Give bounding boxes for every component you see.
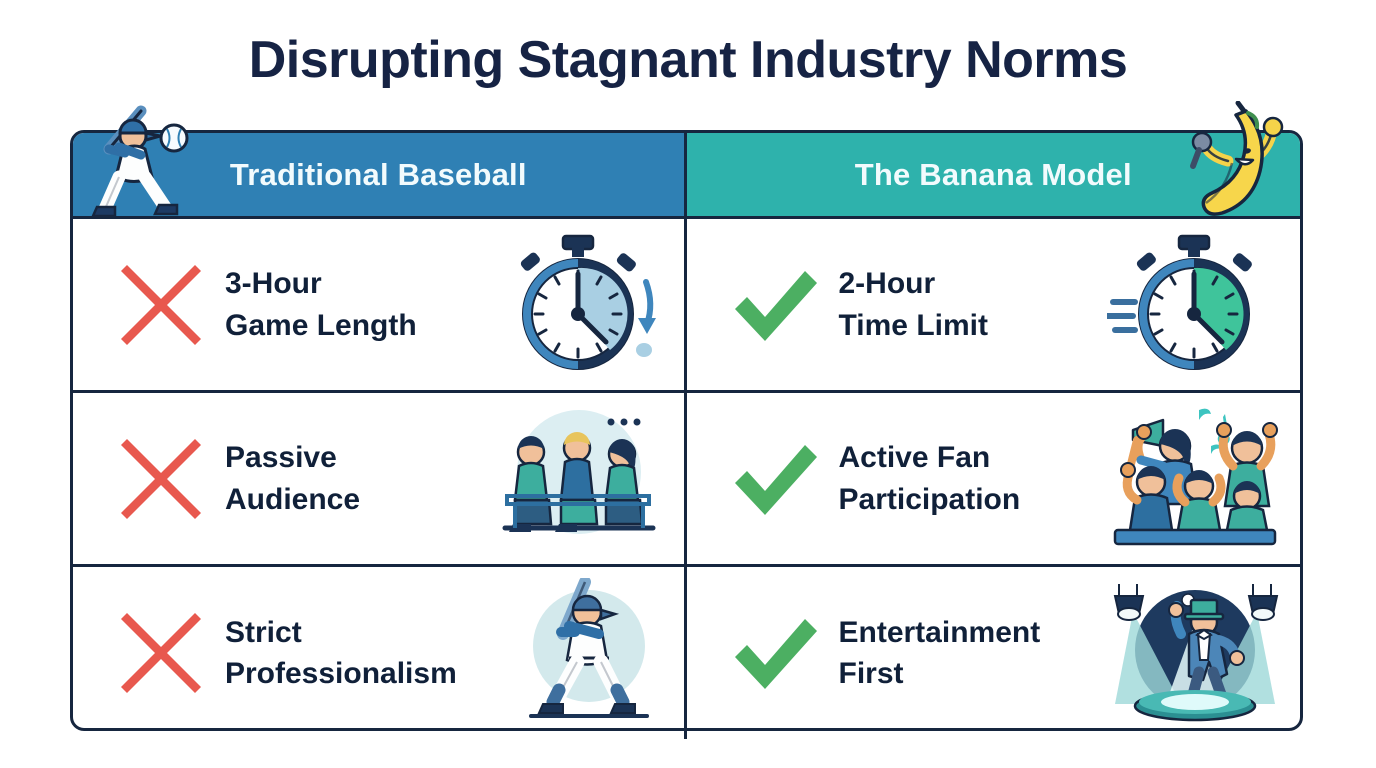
header-cell-banana: The Banana Model [687,133,1301,216]
stopwatch-slow-icon [491,230,666,380]
cell-label: 2-Hour Time Limit [839,263,1108,346]
cell-banana-3: Entertainment First [687,567,1301,739]
cell-label: Passive Audience [225,437,491,520]
page-title: Disrupting Stagnant Industry Norms [0,30,1376,90]
table-row: Strict Professionalism [73,564,1300,739]
cell-traditional-1: 3-Hour Game Length [73,219,687,390]
header-cell-traditional: Traditional Baseball [73,133,687,216]
table-row: 3-Hour Game Length [73,216,1300,390]
header-label-banana: The Banana Model [855,157,1132,193]
cell-traditional-2: Passive Audience [73,393,687,564]
cell-traditional-3: Strict Professionalism [73,567,687,739]
cell-banana-2: Active Fan Participation [687,393,1301,564]
cheering-fans-icon [1107,404,1282,554]
cross-icon [113,431,209,527]
stopwatch-fast-icon [1107,230,1282,380]
cell-label: Strict Professionalism [225,612,491,695]
cell-banana-1: 2-Hour Time Limit [687,219,1301,390]
cross-icon [113,257,209,353]
table-header-row: Traditional Baseball The Banana Model [73,133,1300,216]
table-row: Passive Audience [73,390,1300,564]
check-icon [727,431,823,527]
seated-audience-icon [491,404,666,554]
stage-performer-icon [1107,578,1282,728]
cross-icon [113,605,209,701]
cell-label: Active Fan Participation [839,437,1108,520]
cell-label: Entertainment First [839,612,1108,695]
comparison-table: Traditional Baseball The Banana Model [70,130,1303,731]
check-icon [727,605,823,701]
baseball-batter-icon [491,578,666,728]
infographic-page: Disrupting Stagnant Industry Norms Tradi… [0,0,1376,768]
check-icon [727,257,823,353]
cell-label: 3-Hour Game Length [225,263,491,346]
header-label-traditional: Traditional Baseball [230,157,527,193]
